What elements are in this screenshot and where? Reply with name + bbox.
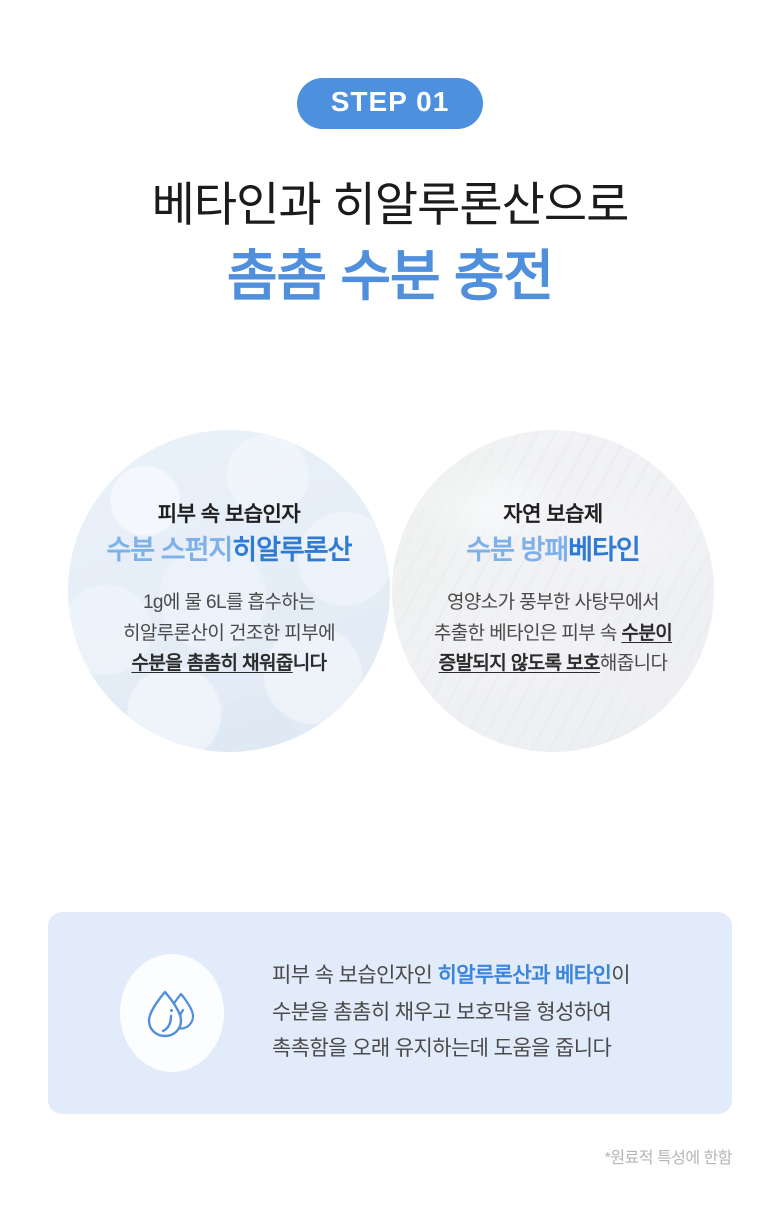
page-headline: 베타인과 히알루론산으로 촘촘 수분 충전 <box>0 176 780 312</box>
summary-box: 피부 속 보습인자인 히알루론산과 베타인이 수분을 촘촘히 채우고 보호막을 … <box>48 912 732 1114</box>
ingredient-title: 수분 스펀지히알루론산 <box>107 534 352 568</box>
ingredient-body-emphasis: 증발되지 않도록 보호 <box>439 653 600 674</box>
ingredient-body-emphasis: 수분을 촘촘히 채워줍 <box>131 653 292 674</box>
ingredient-circle-content: 피부 속 보습인자 수분 스펀지히알루론산 1g에 물 6L를 흡수하는 히알루… <box>68 430 390 752</box>
ingredient-body-tail: 니다 <box>293 653 327 674</box>
summary-highlight: 히알루론산과 베타인 <box>437 964 611 987</box>
ingredient-body-plain: 추출한 베타인은 피부 속 <box>434 623 622 644</box>
ingredient-body-line-1: 1g에 물 6L를 흡수하는 <box>123 588 335 619</box>
ingredient-body-line-3: 수분을 촘촘히 채워줍니다 <box>123 649 335 680</box>
water-drop-icon-badge <box>120 954 224 1072</box>
summary-line-3: 촉촉함을 오래 유지하는데 도움을 줍니다 <box>272 1031 630 1068</box>
headline-line-1: 베타인과 히알루론산으로 <box>0 176 780 235</box>
summary-line-2: 수분을 촘촘히 채우고 보호막을 형성하여 <box>272 995 630 1032</box>
headline-line-2: 촘촘 수분 충전 <box>0 241 780 313</box>
summary-line-1: 피부 속 보습인자인 히알루론산과 베타인이 <box>272 958 630 995</box>
ingredient-title-light: 수분 방패 <box>466 535 568 565</box>
ingredient-body-line-2: 히알루론산이 건조한 피부에 <box>123 619 335 650</box>
ingredient-circle-hyaluronic-acid: 피부 속 보습인자 수분 스펀지히알루론산 1g에 물 6L를 흡수하는 히알루… <box>68 430 390 752</box>
footnote: *원료적 특성에 한함 <box>0 1144 732 1168</box>
ingredient-circle-content: 자연 보습제 수분 방패베타인 영양소가 풍부한 사탕무에서 추출한 베타인은 … <box>392 430 714 752</box>
ingredient-title-dark: 히알루론산 <box>232 535 351 565</box>
ingredient-eyebrow: 자연 보습제 <box>503 502 602 527</box>
step-badge-row: STEP 01 <box>0 78 780 129</box>
ingredient-eyebrow: 피부 속 보습인자 <box>158 502 300 527</box>
ingredient-circle-betaine: 자연 보습제 수분 방패베타인 영양소가 풍부한 사탕무에서 추출한 베타인은 … <box>392 430 714 752</box>
summary-line-1-pre: 피부 속 보습인자인 <box>272 964 437 987</box>
ingredient-body: 영양소가 풍부한 사탕무에서 추출한 베타인은 피부 속 수분이 증발되지 않도… <box>434 588 672 680</box>
ingredient-body-line-3: 증발되지 않도록 보호해줍니다 <box>434 649 672 680</box>
ingredient-title-light: 수분 스펀지 <box>107 535 233 565</box>
ingredient-body-line-1: 영양소가 풍부한 사탕무에서 <box>434 588 672 619</box>
ingredient-title: 수분 방패베타인 <box>466 534 639 568</box>
ingredient-body-emphasis: 수분이 <box>621 623 672 644</box>
ingredient-title-dark: 베타인 <box>568 535 640 565</box>
ingredient-body-line-2: 추출한 베타인은 피부 속 수분이 <box>434 619 672 650</box>
ingredient-circles: 피부 속 보습인자 수분 스펀지히알루론산 1g에 물 6L를 흡수하는 히알루… <box>0 430 780 790</box>
summary-text: 피부 속 보습인자인 히알루론산과 베타인이 수분을 촘촘히 채우고 보호막을 … <box>272 958 630 1068</box>
water-drop-icon <box>141 982 203 1044</box>
summary-line-1-post: 이 <box>611 964 630 987</box>
step-badge: STEP 01 <box>297 78 484 129</box>
ingredient-body: 1g에 물 6L를 흡수하는 히알루론산이 건조한 피부에 수분을 촘촘히 채워… <box>123 588 335 680</box>
ingredient-body-tail: 해줍니다 <box>600 653 668 674</box>
